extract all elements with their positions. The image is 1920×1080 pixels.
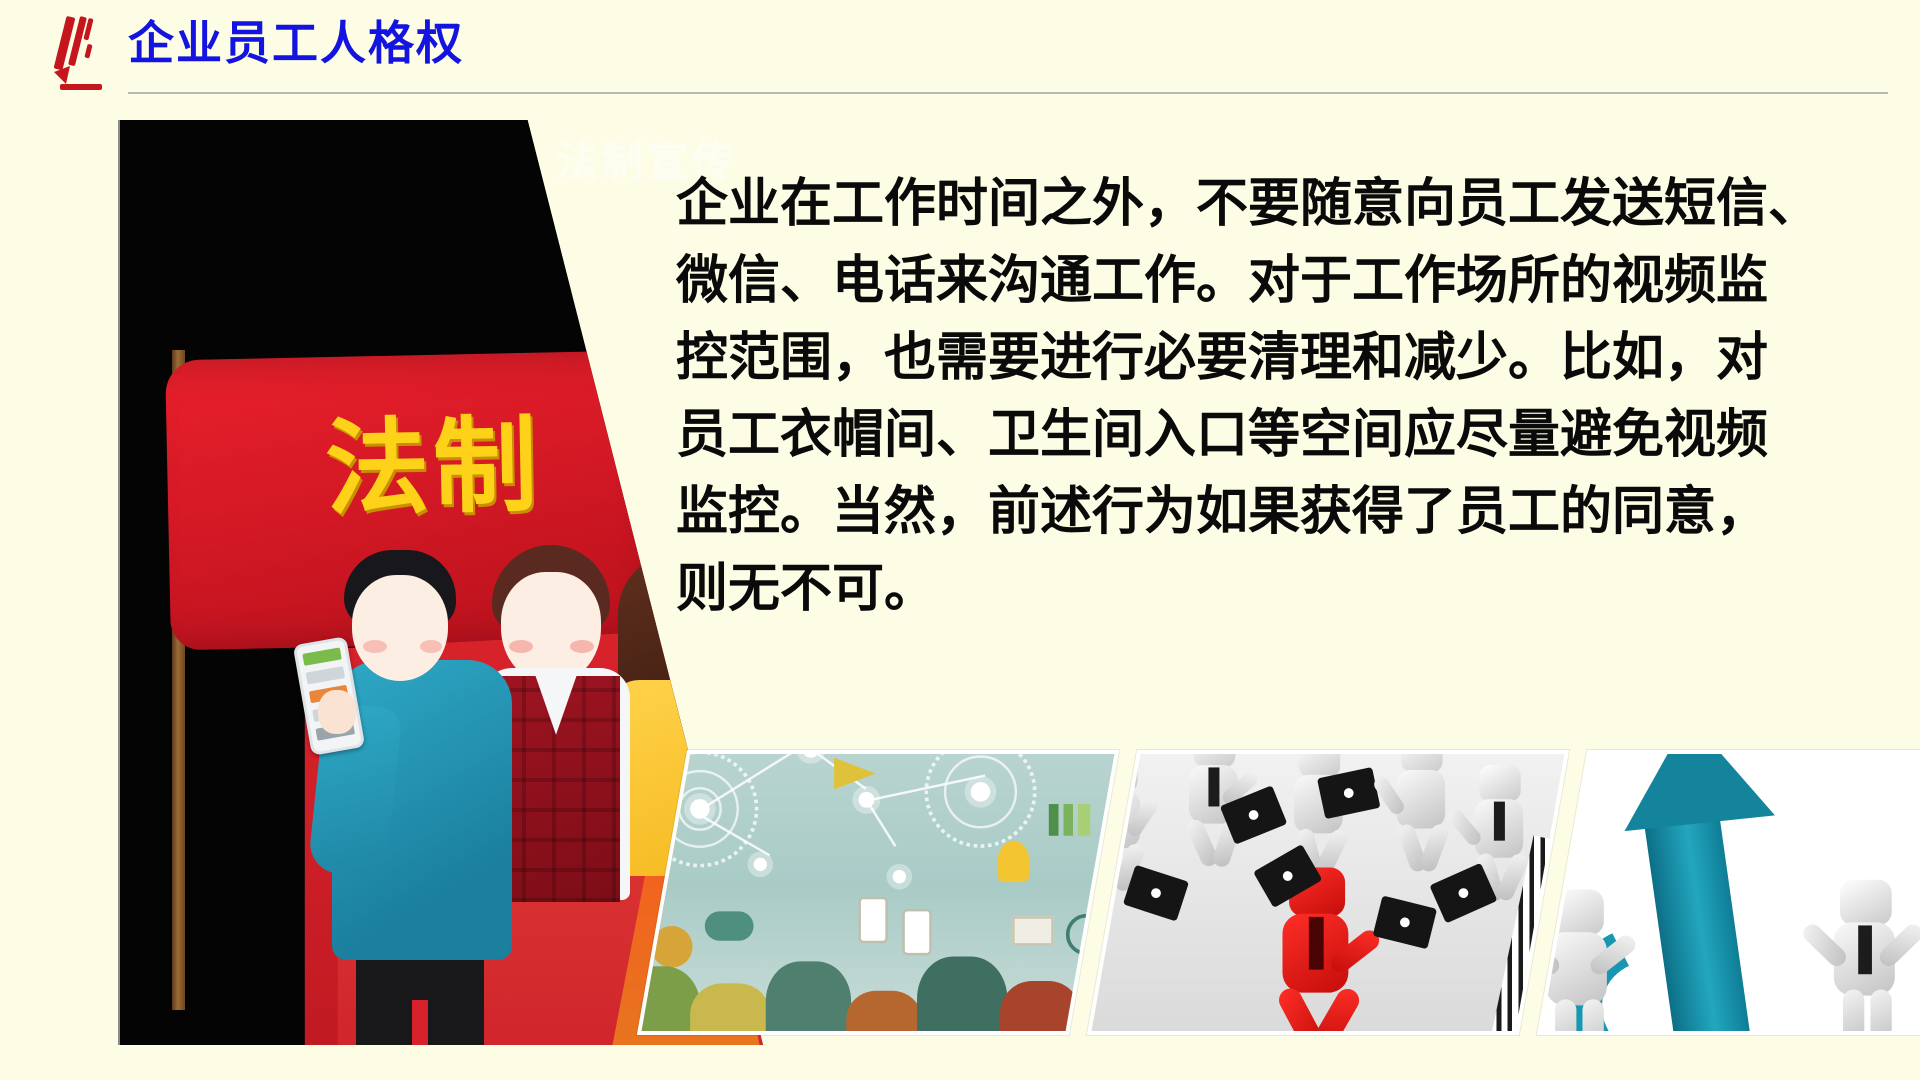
audience-silhouette [766, 961, 851, 1035]
smartphone-icon [858, 897, 887, 943]
network-node [893, 870, 906, 883]
cloud-icon [705, 911, 754, 940]
audience-silhouette [846, 991, 922, 1035]
gear-icon [656, 931, 688, 963]
body-line: 员工衣帽间、卫生间入口等空间应尽量避免视频 [676, 397, 1876, 474]
bar-chart-icon [1049, 804, 1090, 836]
pencil-icon [40, 14, 110, 92]
lightbulb-icon [998, 841, 1030, 882]
page-title: 企业员工人格权 [128, 18, 464, 69]
slide-header: 企业员工人格权 [0, 0, 1920, 100]
running-crowd-photo [1087, 750, 1569, 1035]
boy-vest-cheek-right [570, 640, 594, 653]
body-line: 企业在工作时间之外，不要随意向员工发送短信、 [676, 166, 1876, 243]
boy-phone-head [352, 575, 448, 681]
body-line: 监控。当然，前述行为如果获得了员工的同意， [676, 474, 1876, 551]
body-paragraph: 企业在工作时间之外，不要随意向员工发送短信、 微信、电话来沟通工作。对于工作场所… [676, 166, 1876, 628]
boy-phone-cheek-right [420, 640, 442, 653]
boy-phone-cheek-left [363, 640, 387, 653]
megaphone-icon [834, 758, 875, 790]
body-line: 微信、电话来沟通工作。对于工作场所的视频监 [676, 243, 1876, 320]
network-node [754, 858, 767, 871]
boy-phone-hand [318, 690, 356, 734]
audience-silhouette [917, 957, 1007, 1035]
audience-silhouette [1000, 981, 1081, 1035]
banner-text: 法制 [324, 380, 543, 535]
header-divider [128, 92, 1888, 94]
photo-strip [650, 750, 1920, 1050]
slide-canvas: 企业员工人格权 法制 [0, 0, 1920, 1080]
audience-silhouette [690, 983, 771, 1035]
network-node [971, 782, 991, 802]
network-infographic-photo [637, 750, 1119, 1035]
smartphone-icon [902, 909, 931, 955]
boy-phone-leg-gap [412, 1000, 428, 1045]
boy-vest-cheek-left [509, 640, 533, 653]
body-line: 控范围，也需要进行必要清理和减少。比如，对 [676, 320, 1876, 397]
teamwork-arrow-photo [1537, 750, 1920, 1035]
envelope-icon [1012, 916, 1053, 945]
body-line: 则无不可。 [676, 551, 1876, 628]
